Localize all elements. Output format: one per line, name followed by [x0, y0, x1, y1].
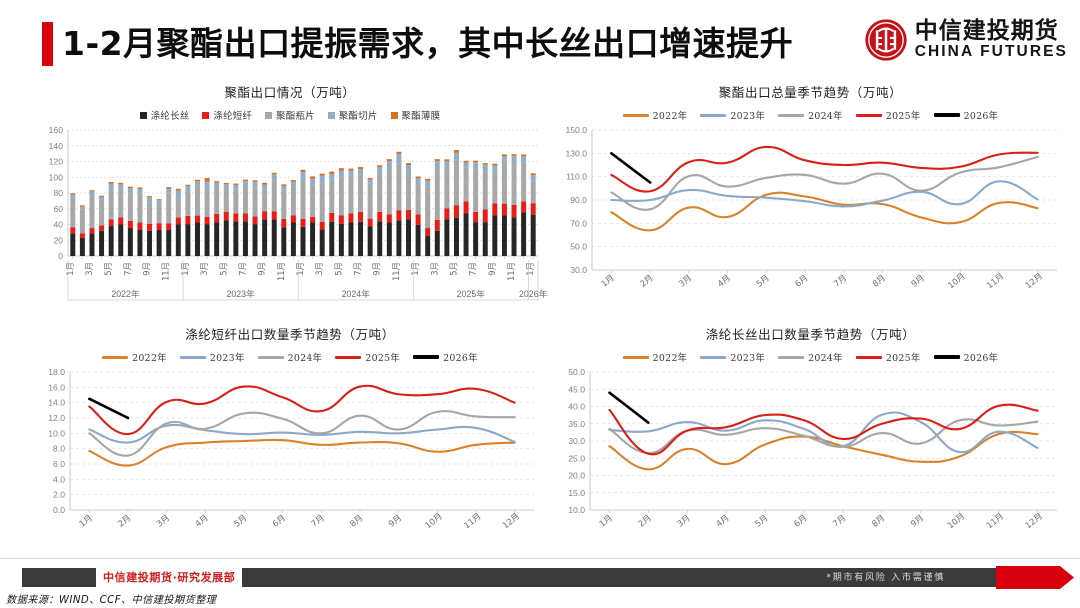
- svg-text:9月: 9月: [908, 512, 925, 528]
- svg-text:3月: 3月: [675, 512, 692, 528]
- legend-item: 2022年: [102, 350, 167, 364]
- svg-text:4月: 4月: [715, 272, 732, 288]
- svg-text:10月: 10月: [945, 511, 966, 531]
- legend-label: 2025年: [886, 108, 921, 122]
- svg-text:40: 40: [53, 220, 63, 230]
- svg-text:11月: 11月: [391, 262, 401, 281]
- legend-item: 涤纶短纤: [202, 108, 252, 122]
- chart-legend: 涤纶长丝涤纶短纤聚酯瓶片聚酯切片聚酯薄膜: [30, 108, 550, 122]
- svg-text:3月: 3月: [314, 262, 324, 276]
- chart-legend: 2022年2023年2024年2025年2026年: [548, 350, 1073, 364]
- svg-text:12月: 12月: [1023, 511, 1044, 531]
- footer-risk-warning: *期市有风险 入市需谨慎: [826, 568, 945, 587]
- svg-text:1月: 1月: [597, 512, 614, 528]
- legend-item: 2023年: [700, 350, 765, 364]
- legend-label: 涤纶长丝: [151, 108, 190, 122]
- legend-item: 2023年: [180, 350, 245, 364]
- chart-plot-area: 10.015.020.025.030.035.040.045.050.01月2月…: [548, 364, 1073, 552]
- brand-logo: 中信建投期货 CHINA FUTURES: [864, 18, 1068, 62]
- svg-text:9月: 9月: [142, 262, 152, 276]
- svg-text:2026年: 2026年: [519, 288, 548, 299]
- svg-text:60: 60: [53, 204, 63, 214]
- svg-text:12月: 12月: [500, 511, 521, 531]
- svg-text:12月: 12月: [1023, 271, 1044, 291]
- svg-text:110.0: 110.0: [566, 172, 587, 182]
- svg-text:80: 80: [53, 188, 63, 198]
- legend-item: 2022年: [623, 108, 688, 122]
- legend-label: 2026年: [964, 108, 999, 122]
- legend-label: 涤纶短纤: [213, 108, 252, 122]
- svg-text:1月: 1月: [525, 262, 535, 276]
- title-accent-bar: [42, 22, 53, 66]
- chart-title: 涤纶长丝出口数量季节趋势（万吨）: [548, 320, 1073, 343]
- legend-swatch: [778, 114, 804, 117]
- svg-text:7月: 7月: [237, 262, 247, 276]
- svg-text:6月: 6月: [270, 512, 287, 528]
- legend-swatch: [335, 356, 361, 359]
- legend-label: 2022年: [653, 108, 688, 122]
- svg-text:6.0: 6.0: [53, 459, 65, 469]
- legend-swatch: [140, 112, 147, 119]
- legend-label: 2024年: [288, 350, 323, 364]
- page-footer: 中信建投期货·研究发展部 *期市有风险 入市需谨慎 数据来源：WIND、CCF、…: [0, 558, 1080, 608]
- legend-swatch: [778, 356, 804, 359]
- svg-text:90.0: 90.0: [570, 195, 587, 205]
- svg-text:4月: 4月: [714, 512, 731, 528]
- legend-swatch: [934, 113, 960, 117]
- legend-swatch: [391, 112, 398, 119]
- svg-text:2.0: 2.0: [53, 490, 65, 500]
- svg-text:1月: 1月: [65, 262, 75, 276]
- legend-label: 2025年: [365, 350, 400, 364]
- chart-legend: 2022年2023年2024年2025年2026年: [30, 350, 550, 364]
- chart-polyester-export-stacked: 聚酯出口情况（万吨） 涤纶长丝涤纶短纤聚酯瓶片聚酯切片聚酯薄膜 02040608…: [30, 78, 550, 320]
- svg-text:35.0: 35.0: [568, 419, 585, 429]
- svg-text:20: 20: [53, 235, 63, 245]
- svg-text:3月: 3月: [84, 262, 94, 276]
- svg-text:11月: 11月: [984, 511, 1005, 531]
- legend-item: 聚酯瓶片: [265, 108, 315, 122]
- legend-item: 2022年: [623, 350, 688, 364]
- chart-plot-area: 0204060801001201401601月3月5月7月9月11月2022年1…: [30, 122, 550, 312]
- chart-plot-area: 30.050.070.090.0110.0130.0150.01月2月3月4月5…: [548, 122, 1073, 312]
- svg-text:30.0: 30.0: [570, 265, 587, 275]
- arrow-icon: [996, 566, 1074, 589]
- legend-item: 聚酯切片: [328, 108, 378, 122]
- legend-item: 2025年: [856, 108, 921, 122]
- legend-item: 2026年: [934, 108, 999, 122]
- legend-swatch: [413, 355, 439, 359]
- legend-label: 聚酯薄膜: [402, 108, 441, 122]
- svg-text:4.0: 4.0: [53, 474, 65, 484]
- legend-swatch: [265, 112, 272, 119]
- svg-text:7月: 7月: [122, 262, 132, 276]
- legend-label: 2023年: [210, 350, 245, 364]
- chart-pfy-export-seasonal: 涤纶长丝出口数量季节趋势（万吨） 2022年2023年2024年2025年202…: [548, 320, 1073, 558]
- svg-text:7月: 7月: [832, 272, 849, 288]
- legend-swatch: [180, 356, 206, 359]
- legend-label: 聚酯瓶片: [276, 108, 315, 122]
- svg-text:130.0: 130.0: [565, 148, 587, 158]
- svg-text:2023年: 2023年: [226, 288, 255, 299]
- svg-text:5月: 5月: [754, 272, 771, 288]
- legend-item: 2024年: [258, 350, 323, 364]
- legend-item: 2026年: [413, 350, 478, 364]
- svg-text:11月: 11月: [276, 262, 286, 281]
- svg-text:3月: 3月: [199, 262, 209, 276]
- footer-source: 数据来源：WIND、CCF、中信建投期货整理: [6, 591, 216, 606]
- svg-text:1月: 1月: [77, 512, 94, 528]
- legend-item: 2025年: [856, 350, 921, 364]
- svg-text:20.0: 20.0: [568, 471, 585, 481]
- svg-text:0.0: 0.0: [53, 505, 65, 515]
- logo-text-cn: 中信建投期货: [915, 20, 1068, 44]
- citic-seal-icon: [864, 18, 908, 62]
- footer-divider: [0, 558, 1080, 559]
- legend-swatch: [623, 114, 649, 117]
- chart-grid: 聚酯出口情况（万吨） 涤纶长丝涤纶短纤聚酯瓶片聚酯切片聚酯薄膜 02040608…: [0, 78, 1080, 558]
- svg-text:45.0: 45.0: [568, 384, 585, 394]
- chart-psf-export-seasonal: 涤纶短纤出口数量季节趋势（万吨） 2022年2023年2024年2025年202…: [30, 320, 550, 558]
- svg-text:70.0: 70.0: [570, 218, 587, 228]
- chart-legend: 2022年2023年2024年2025年2026年: [548, 108, 1073, 122]
- svg-text:8月: 8月: [348, 512, 365, 528]
- legend-item: 聚酯薄膜: [391, 108, 441, 122]
- svg-text:140: 140: [49, 141, 64, 151]
- svg-text:30.0: 30.0: [568, 436, 585, 446]
- svg-text:6月: 6月: [792, 512, 809, 528]
- svg-text:2月: 2月: [638, 272, 655, 288]
- legend-label: 2026年: [443, 350, 478, 364]
- footer-brand: 中信建投期货·研究发展部: [96, 568, 242, 587]
- svg-text:7月: 7月: [353, 262, 363, 276]
- svg-text:1月: 1月: [599, 272, 616, 288]
- legend-label: 2022年: [132, 350, 167, 364]
- chart-title: 聚酯出口情况（万吨）: [30, 78, 550, 101]
- legend-label: 2024年: [808, 350, 843, 364]
- legend-swatch: [328, 112, 335, 119]
- svg-text:9月: 9月: [909, 272, 926, 288]
- svg-text:40.0: 40.0: [568, 402, 585, 412]
- svg-text:5月: 5月: [232, 512, 249, 528]
- page-header: 1-2月聚酯出口提振需求，其中长丝出口增速提升 中信建投期货 CHINA FUT…: [0, 0, 1080, 78]
- legend-label: 2022年: [653, 350, 688, 364]
- legend-swatch: [700, 356, 726, 359]
- svg-text:11月: 11月: [462, 511, 483, 531]
- svg-text:5月: 5月: [333, 262, 343, 276]
- svg-text:100: 100: [49, 172, 64, 182]
- legend-swatch: [856, 356, 882, 359]
- svg-text:10.0: 10.0: [568, 505, 585, 515]
- svg-text:2024年: 2024年: [342, 288, 371, 299]
- svg-text:18.0: 18.0: [48, 367, 65, 377]
- svg-text:2月: 2月: [636, 512, 653, 528]
- legend-swatch: [856, 114, 882, 117]
- svg-text:10月: 10月: [423, 511, 444, 531]
- svg-text:5月: 5月: [218, 262, 228, 276]
- svg-text:8.0: 8.0: [53, 444, 65, 454]
- svg-text:50.0: 50.0: [568, 367, 585, 377]
- legend-swatch: [202, 112, 209, 119]
- svg-text:3月: 3月: [429, 262, 439, 276]
- chart-title: 涤纶短纤出口数量季节趋势（万吨）: [30, 320, 550, 343]
- svg-text:3月: 3月: [154, 512, 171, 528]
- svg-text:0: 0: [58, 251, 63, 261]
- svg-text:2022年: 2022年: [111, 288, 140, 299]
- legend-swatch: [934, 355, 960, 359]
- svg-text:16.0: 16.0: [48, 382, 65, 392]
- svg-text:9月: 9月: [386, 512, 403, 528]
- legend-item: 2023年: [700, 108, 765, 122]
- svg-text:2月: 2月: [116, 512, 133, 528]
- svg-text:11月: 11月: [161, 262, 171, 281]
- svg-text:8月: 8月: [870, 512, 887, 528]
- legend-item: 2026年: [934, 350, 999, 364]
- svg-text:9月: 9月: [257, 262, 267, 276]
- svg-text:1月: 1月: [180, 262, 190, 276]
- svg-text:160: 160: [49, 125, 64, 135]
- svg-text:10月: 10月: [946, 271, 967, 291]
- legend-swatch: [102, 356, 128, 359]
- legend-label: 2024年: [808, 108, 843, 122]
- svg-text:8月: 8月: [870, 272, 887, 288]
- legend-label: 2023年: [730, 350, 765, 364]
- svg-text:9月: 9月: [487, 262, 497, 276]
- legend-label: 2025年: [886, 350, 921, 364]
- svg-text:5月: 5月: [448, 262, 458, 276]
- legend-label: 2026年: [964, 350, 999, 364]
- svg-text:6月: 6月: [793, 272, 810, 288]
- logo-text-en: CHINA FUTURES: [915, 43, 1068, 60]
- svg-text:25.0: 25.0: [568, 453, 585, 463]
- legend-label: 2023年: [730, 108, 765, 122]
- legend-swatch: [258, 356, 284, 359]
- legend-item: 2025年: [335, 350, 400, 364]
- legend-swatch: [623, 356, 649, 359]
- svg-text:10.0: 10.0: [48, 428, 65, 438]
- svg-text:7月: 7月: [831, 512, 848, 528]
- chart-plot-area: 0.02.04.06.08.010.012.014.016.018.01月2月3…: [30, 364, 550, 552]
- svg-text:120: 120: [49, 157, 64, 167]
- legend-item: 2024年: [778, 108, 843, 122]
- svg-text:11月: 11月: [506, 262, 516, 281]
- legend-label: 聚酯切片: [339, 108, 378, 122]
- legend-item: 涤纶长丝: [140, 108, 190, 122]
- svg-text:4月: 4月: [193, 512, 210, 528]
- svg-text:3月: 3月: [677, 272, 694, 288]
- svg-text:7月: 7月: [309, 512, 326, 528]
- page-title: 1-2月聚酯出口提振需求，其中长丝出口增速提升: [62, 22, 793, 66]
- svg-text:1月: 1月: [295, 262, 305, 276]
- svg-text:1月: 1月: [410, 262, 420, 276]
- svg-text:150.0: 150.0: [565, 125, 587, 135]
- svg-text:9月: 9月: [372, 262, 382, 276]
- chart-polyester-total-seasonal: 聚酯出口总量季节趋势（万吨） 2022年2023年2024年2025年2026年…: [548, 78, 1073, 320]
- svg-text:15.0: 15.0: [568, 488, 585, 498]
- svg-text:2025年: 2025年: [457, 288, 486, 299]
- legend-swatch: [700, 114, 726, 117]
- svg-text:5月: 5月: [103, 262, 113, 276]
- svg-text:11月: 11月: [984, 271, 1005, 291]
- chart-title: 聚酯出口总量季节趋势（万吨）: [548, 78, 1073, 101]
- svg-text:50.0: 50.0: [570, 242, 587, 252]
- svg-text:12.0: 12.0: [48, 413, 65, 423]
- svg-text:14.0: 14.0: [48, 398, 65, 408]
- legend-item: 2024年: [778, 350, 843, 364]
- svg-text:5月: 5月: [753, 512, 770, 528]
- svg-text:7月: 7月: [468, 262, 478, 276]
